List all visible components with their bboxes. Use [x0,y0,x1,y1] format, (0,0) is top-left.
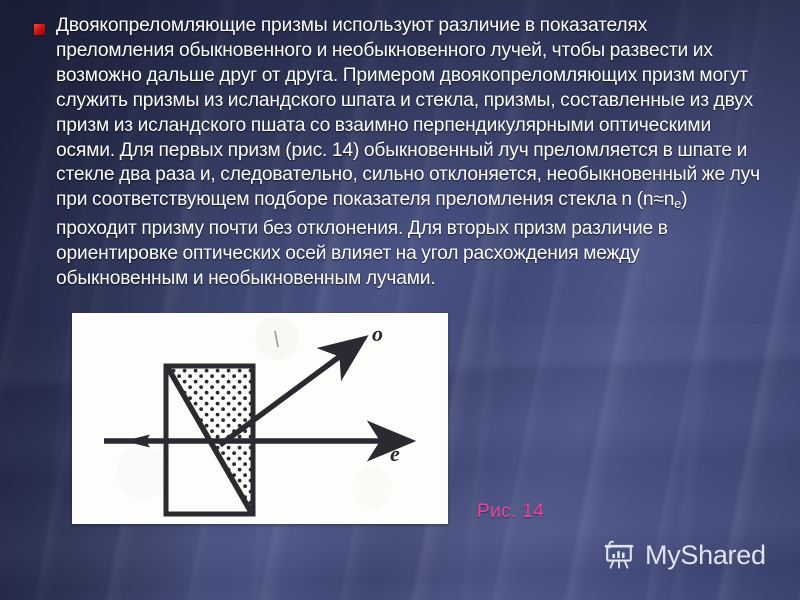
prism-figure-svg: o e [72,313,448,524]
presentation-board-chart-icon [602,538,636,572]
myshared-wordmark-shared: Shared [680,540,765,570]
myshared-wordmark: MyShared [645,542,766,569]
prism-figure: o e [72,313,448,524]
body-paragraph: Двоякопреломляющие призмы используют раз… [56,14,770,292]
myshared-watermark: MyShared [602,538,766,572]
body-text-block: Двоякопреломляющие призмы используют раз… [34,14,770,292]
extraordinary-ray-label: e [390,441,400,466]
slide-canvas: Двоякопреломляющие призмы используют раз… [0,0,800,600]
red-square-bullet-icon [34,24,45,35]
myshared-wordmark-my: My [645,540,680,570]
figure-caption: Рис. 14 [477,501,544,523]
ordinary-ray-label: o [372,321,383,346]
